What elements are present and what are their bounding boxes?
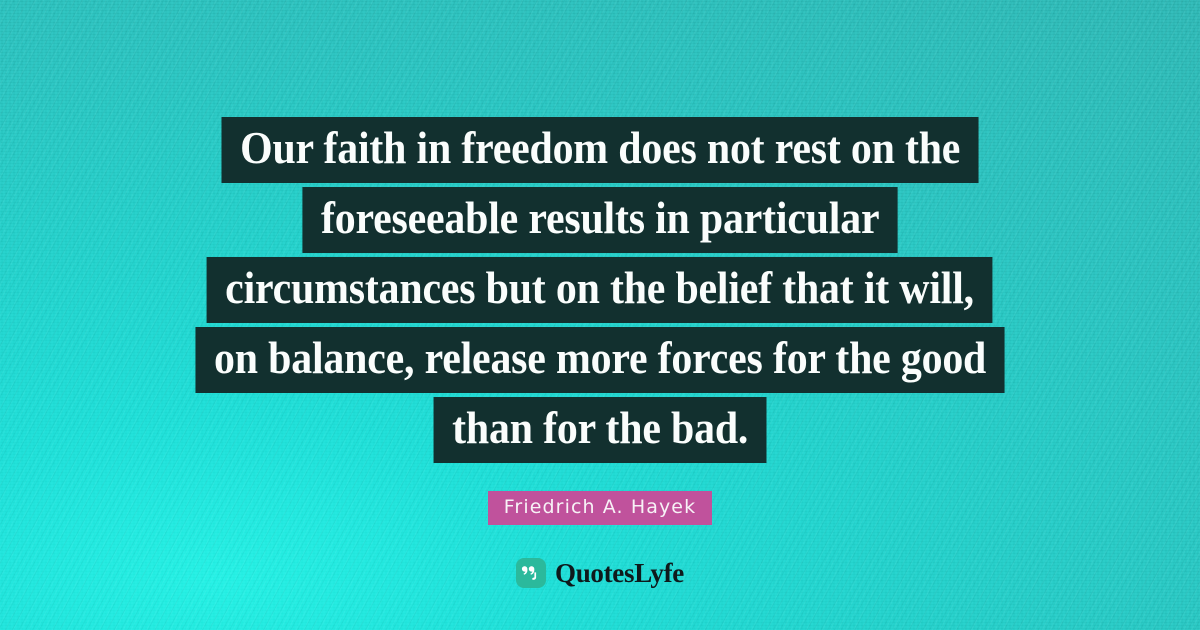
quote-line: than for the bad. [433, 397, 766, 463]
quoteslyfe-logo[interactable]: QuotesLyfe [0, 558, 1200, 588]
quote-text-block: Our faith in freedom does not rest on th… [0, 117, 1200, 467]
quote-line: on balance, release more forces for the … [195, 327, 1004, 393]
quote-line: Our faith in freedom does not rest on th… [221, 117, 978, 183]
quote-line: foreseeable results in particular [302, 187, 898, 253]
author-attribution-badge: Friedrich A. Hayek [488, 491, 712, 525]
quote-line: circumstances but on the belief that it … [207, 257, 993, 323]
quotation-mark-icon [516, 558, 546, 588]
logo-wordmark: QuotesLyfe [555, 560, 684, 587]
quote-card: Our faith in freedom does not rest on th… [0, 0, 1200, 630]
